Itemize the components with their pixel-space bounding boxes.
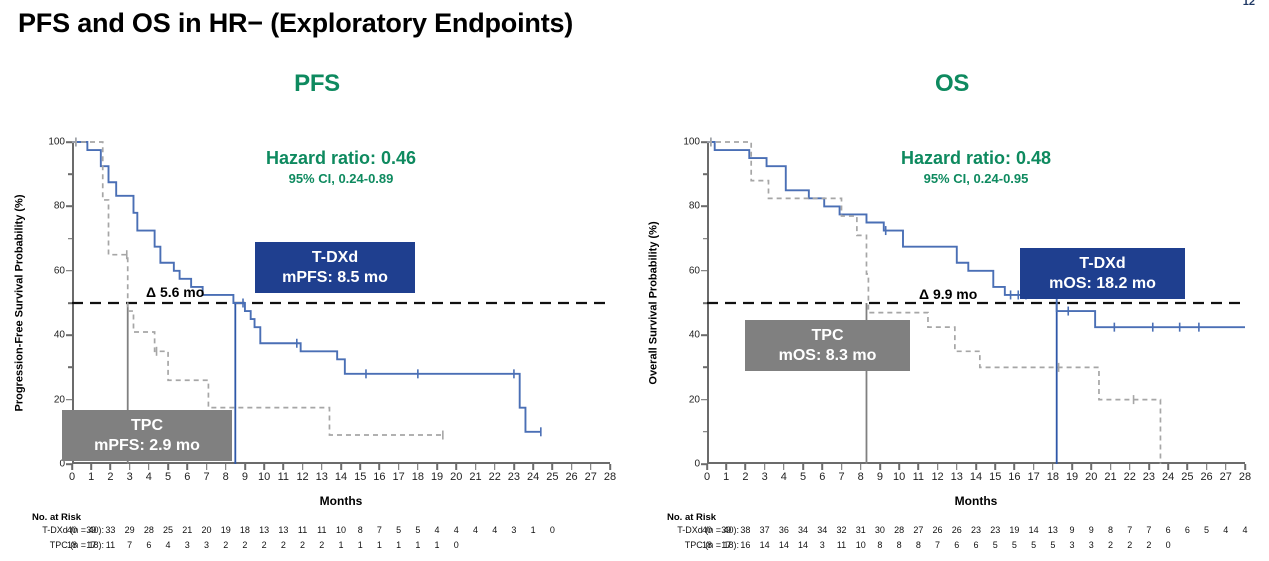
x-tick-label: 15: [989, 471, 1001, 483]
risk-row-value: 5: [993, 540, 998, 550]
x-tick-label: 16: [1008, 471, 1020, 483]
x-tick-label: 26: [565, 471, 577, 483]
x-tick-label: 24: [527, 471, 539, 483]
risk-row-value: 1: [358, 540, 363, 550]
risk-row-value: 39: [86, 525, 96, 535]
risk-row-value: 14: [1029, 525, 1039, 535]
risk-row-value: 0: [1166, 540, 1171, 550]
x-tick-label: 18: [412, 471, 424, 483]
x-tick-mark: [494, 464, 496, 470]
risk-row-value: 7: [1127, 525, 1132, 535]
x-tick-label: 11: [278, 471, 289, 483]
y-tick-label: 60: [689, 265, 707, 276]
x-tick-label: 13: [316, 471, 328, 483]
x-tick-mark: [398, 464, 400, 470]
risk-row-value: 26: [952, 525, 962, 535]
slide-title: PFS and OS in HR− (Exploratory Endpoints…: [18, 8, 573, 39]
risk-row-value: 28: [144, 525, 154, 535]
x-tick-label: 20: [450, 471, 462, 483]
risk-row-value: 3: [204, 540, 209, 550]
x-tick-label: 1: [88, 471, 94, 483]
risk-row-value: 37: [760, 525, 770, 535]
callout-tpc-os: TPC mOS: 8.3 mo: [745, 320, 910, 371]
risk-row-value: 1: [396, 540, 401, 550]
x-tick-mark: [706, 464, 708, 470]
risk-row-value: 40: [702, 525, 712, 535]
risk-table-os: No. at Risk T-DXd (n = 40):4039383736343…: [639, 512, 1269, 553]
risk-row-value: 6: [954, 540, 959, 550]
callout-tpc-os-line1: TPC: [759, 326, 896, 346]
panel-os: OS Overall Survival Probability (%) 0204…: [635, 70, 1269, 561]
x-tick-mark: [90, 464, 92, 470]
risk-table-row: T-DXd (n = 40):4039383736343432313028272…: [639, 523, 1269, 538]
x-tick-mark: [552, 464, 554, 470]
slide-root: 12 PFS and OS in HR− (Exploratory Endpoi…: [0, 0, 1269, 561]
risk-row-value: 5: [1204, 525, 1209, 535]
risk-row-value: 13: [278, 525, 288, 535]
x-tick-mark: [841, 464, 843, 470]
x-tick-mark: [975, 464, 977, 470]
x-tick-label: 3: [762, 471, 768, 483]
risk-row-value: 2: [1146, 540, 1151, 550]
x-tick-mark: [532, 464, 534, 470]
x-tick-mark: [1033, 464, 1035, 470]
risk-row-value: 18: [240, 525, 250, 535]
risk-row-value: 3: [185, 540, 190, 550]
x-tick-label: 11: [913, 471, 924, 483]
risk-row-value: 14: [760, 540, 770, 550]
x-tick-mark: [1148, 464, 1150, 470]
risk-row-value: 3: [511, 525, 516, 535]
x-tick-mark: [379, 464, 381, 470]
risk-row-value: 5: [415, 525, 420, 535]
callout-tpc-pfs-line1: TPC: [76, 416, 218, 436]
y-tick-label: 100: [48, 137, 72, 148]
risk-row-value: 4: [454, 525, 459, 535]
x-tick-label: 12: [931, 471, 943, 483]
risk-row-value: 13: [1048, 525, 1058, 535]
risk-row-value: 1: [338, 540, 343, 550]
x-tick-mark: [340, 464, 342, 470]
callout-tpc-pfs: TPC mPFS: 2.9 mo: [62, 410, 232, 461]
risk-row-value: 28: [894, 525, 904, 535]
callout-tdxd-os: T-DXd mOS: 18.2 mo: [1020, 248, 1185, 299]
risk-row-value: 1: [415, 540, 420, 550]
hazard-ratio-block-pfs: Hazard ratio: 0.46 95% CI, 0.24-0.89: [216, 148, 466, 186]
risk-row-value: 6: [973, 540, 978, 550]
x-tick-mark: [1014, 464, 1016, 470]
callout-tdxd-os-line1: T-DXd: [1034, 254, 1171, 274]
risk-row-value: 6: [1185, 525, 1190, 535]
hazard-ratio-ci-pfs: 95% CI, 0.24-0.89: [216, 171, 466, 186]
risk-row-value: 2: [262, 540, 267, 550]
risk-row-value: 2: [242, 540, 247, 550]
risk-row-value: 8: [897, 540, 902, 550]
x-tick-mark: [1167, 464, 1169, 470]
x-tick-label: 22: [489, 471, 501, 483]
x-tick-mark: [745, 464, 747, 470]
x-tick-mark: [186, 464, 188, 470]
risk-row-value: 23: [971, 525, 981, 535]
risk-row-value: 3: [820, 540, 825, 550]
risk-row-value: 7: [1146, 525, 1151, 535]
hazard-ratio-block-os: Hazard ratio: 0.48 95% CI, 0.24-0.95: [851, 148, 1101, 186]
x-tick-label: 8: [223, 471, 229, 483]
x-tick-label: 10: [893, 471, 905, 483]
x-tick-label: 21: [469, 471, 481, 483]
y-tick-label: 80: [689, 201, 707, 212]
risk-row-value: 6: [146, 540, 151, 550]
x-tick-mark: [860, 464, 862, 470]
risk-row-value: 2: [300, 540, 305, 550]
x-tick-label: 4: [146, 471, 152, 483]
x-tick-mark: [417, 464, 419, 470]
x-tick-mark: [898, 464, 900, 470]
x-tick-mark: [1187, 464, 1189, 470]
x-tick-label: 10: [258, 471, 270, 483]
risk-row-value: 39: [721, 525, 731, 535]
x-tick-mark: [609, 464, 611, 470]
x-tick-mark: [225, 464, 227, 470]
plot-area-os: 0204060801000123456789101112131415161718…: [707, 142, 1245, 464]
x-tick-mark: [206, 464, 208, 470]
x-tick-mark: [918, 464, 920, 470]
x-tick-mark: [1225, 464, 1227, 470]
y-tick-label: 40: [689, 330, 707, 341]
risk-row-value: 4: [1242, 525, 1247, 535]
risk-row-value: 20: [201, 525, 211, 535]
x-tick-mark: [110, 464, 112, 470]
y-tick-label: 100: [683, 137, 707, 148]
y-tick-label: 60: [54, 265, 72, 276]
y-tick-label: 20: [54, 394, 72, 405]
risk-row-value: 10: [336, 525, 346, 535]
x-tick-mark: [283, 464, 285, 470]
x-tick-label: 28: [604, 471, 616, 483]
x-tick-mark: [71, 464, 73, 470]
x-tick-mark: [302, 464, 304, 470]
x-tick-label: 9: [877, 471, 883, 483]
risk-row-value: 2: [223, 540, 228, 550]
x-tick-label: 14: [335, 471, 347, 483]
y-axis-label-text-os: Overall Survival Probability (%): [648, 221, 660, 384]
risk-row-value: 9: [1089, 525, 1094, 535]
x-tick-mark: [1129, 464, 1131, 470]
x-tick-mark: [1244, 464, 1246, 470]
hazard-ratio-line-os: Hazard ratio: 0.48: [851, 148, 1101, 169]
x-tick-label: 9: [242, 471, 248, 483]
risk-row-value: 7: [377, 525, 382, 535]
risk-row-value: 26: [933, 525, 943, 535]
risk-row-value: 7: [127, 540, 132, 550]
risk-row-value: 32: [836, 525, 846, 535]
hazard-ratio-value-pfs: 0.46: [381, 148, 416, 168]
risk-row-value: 36: [779, 525, 789, 535]
risk-row-value: 25: [163, 525, 173, 535]
x-tick-label: 23: [508, 471, 520, 483]
x-tick-label: 22: [1124, 471, 1136, 483]
x-tick-mark: [725, 464, 727, 470]
x-tick-mark: [764, 464, 766, 470]
risk-row-value: 2: [281, 540, 286, 550]
y-axis-label-os: Overall Survival Probability (%): [645, 142, 663, 464]
km-curves-os: [707, 142, 1245, 464]
risk-row-value: 4: [492, 525, 497, 535]
x-tick-mark: [167, 464, 169, 470]
y-tick-label: 40: [54, 330, 72, 341]
x-tick-label: 6: [819, 471, 825, 483]
x-tick-label: 20: [1085, 471, 1097, 483]
risk-row-value: 0: [454, 540, 459, 550]
x-axis-label-os: Months: [707, 494, 1245, 508]
risk-row-value: 2: [319, 540, 324, 550]
x-tick-label: 12: [296, 471, 308, 483]
y-tick-label: 20: [689, 394, 707, 405]
risk-row-value: 6: [1166, 525, 1171, 535]
risk-row-value: 11: [106, 540, 115, 550]
risk-row-value: 30: [875, 525, 885, 535]
risk-row-value: 31: [856, 525, 866, 535]
risk-row-value: 16: [740, 540, 750, 550]
x-tick-mark: [994, 464, 996, 470]
risk-table-row: T-DXd (n = 40):4039332928252120191813131…: [4, 523, 634, 538]
page-number: 12: [1243, 0, 1255, 8]
risk-row-value: 10: [856, 540, 866, 550]
risk-row-value: 5: [1050, 540, 1055, 550]
risk-table-row: TPC (n = 18):181716141414311108887665555…: [639, 538, 1269, 553]
x-tick-label: 24: [1162, 471, 1174, 483]
hazard-ratio-label-pfs: Hazard ratio: [266, 148, 370, 168]
risk-row-value: 1: [377, 540, 382, 550]
x-tick-mark: [937, 464, 939, 470]
risk-row-value: 19: [1009, 525, 1019, 535]
risk-row-value: 8: [916, 540, 921, 550]
x-tick-mark: [244, 464, 246, 470]
x-tick-label: 2: [742, 471, 748, 483]
risk-row-value: 8: [877, 540, 882, 550]
x-tick-label: 19: [431, 471, 443, 483]
x-tick-mark: [802, 464, 804, 470]
risk-row-value: 21: [182, 525, 192, 535]
x-tick-mark: [263, 464, 265, 470]
risk-row-value: 5: [1031, 540, 1036, 550]
risk-row-value: 1: [531, 525, 536, 535]
hazard-ratio-ci-os: 95% CI, 0.24-0.95: [851, 171, 1101, 186]
x-tick-mark: [359, 464, 361, 470]
x-tick-label: 15: [354, 471, 366, 483]
risk-row-value: 8: [1108, 525, 1113, 535]
risk-row-value: 11: [298, 525, 307, 535]
x-tick-label: 17: [1028, 471, 1040, 483]
x-tick-mark: [129, 464, 131, 470]
risk-row-value: 40: [67, 525, 77, 535]
x-tick-mark: [879, 464, 881, 470]
x-tick-label: 5: [800, 471, 806, 483]
callout-tdxd-os-line2: mOS: 18.2 mo: [1034, 274, 1171, 294]
hazard-ratio-line-pfs: Hazard ratio: 0.46: [216, 148, 466, 169]
x-axis-label-pfs: Months: [72, 494, 610, 508]
x-tick-mark: [956, 464, 958, 470]
y-axis-label-text-pfs: Progression-Free Survival Probability (%…: [13, 194, 25, 411]
x-tick-mark: [783, 464, 785, 470]
risk-row-value: 34: [817, 525, 827, 535]
x-tick-mark: [571, 464, 573, 470]
risk-row-value: 13: [259, 525, 269, 535]
x-tick-mark: [1090, 464, 1092, 470]
delta-label-os: Δ 9.9 mo: [919, 286, 977, 302]
x-tick-label: 18: [1047, 471, 1059, 483]
x-tick-label: 14: [970, 471, 982, 483]
x-tick-label: 13: [951, 471, 963, 483]
risk-row-value: 14: [798, 540, 808, 550]
risk-table-title-pfs: No. at Risk: [32, 512, 634, 523]
risk-row-value: 18: [702, 540, 712, 550]
risk-row-value: 34: [798, 525, 808, 535]
y-tick-label: 80: [54, 201, 72, 212]
y-tick-label: 0: [694, 459, 707, 470]
x-tick-label: 8: [858, 471, 864, 483]
x-tick-label: 7: [203, 471, 209, 483]
x-tick-label: 26: [1200, 471, 1212, 483]
risk-row-value: 11: [837, 540, 846, 550]
x-tick-mark: [1110, 464, 1112, 470]
x-tick-label: 27: [585, 471, 597, 483]
x-tick-mark: [455, 464, 457, 470]
hazard-ratio-value-os: 0.48: [1016, 148, 1051, 168]
risk-row-value: 7: [935, 540, 940, 550]
risk-row-value: 4: [1223, 525, 1228, 535]
x-tick-label: 4: [781, 471, 787, 483]
x-tick-mark: [590, 464, 592, 470]
risk-table-row: TPC (n = 18):181711764332222221111110: [4, 538, 634, 553]
risk-row-value: 0: [550, 525, 555, 535]
panel-title-os: OS: [635, 70, 1269, 98]
risk-table-title-os: No. at Risk: [667, 512, 1269, 523]
x-tick-mark: [513, 464, 515, 470]
risk-row-value: 1: [435, 540, 440, 550]
hazard-ratio-label-os: Hazard ratio: [901, 148, 1005, 168]
risk-row-value: 3: [1089, 540, 1094, 550]
x-tick-label: 25: [546, 471, 558, 483]
risk-row-value: 27: [913, 525, 923, 535]
delta-label-pfs: Δ 5.6 mo: [146, 284, 204, 300]
x-tick-label: 28: [1239, 471, 1251, 483]
y-axis-label-pfs: Progression-Free Survival Probability (%…: [10, 142, 28, 464]
panel-pfs: PFS Progression-Free Survival Probabilit…: [0, 70, 634, 561]
callout-tdxd-pfs-line1: T-DXd: [269, 248, 401, 268]
risk-row-value: 38: [740, 525, 750, 535]
callout-tpc-pfs-line2: mPFS: 2.9 mo: [76, 436, 218, 456]
risk-row-value: 5: [396, 525, 401, 535]
risk-table-pfs: No. at Risk T-DXd (n = 40):4039332928252…: [4, 512, 634, 553]
risk-row-value: 33: [105, 525, 115, 535]
callout-tdxd-pfs: T-DXd mPFS: 8.5 mo: [255, 242, 415, 293]
x-tick-label: 23: [1143, 471, 1155, 483]
risk-row-value: 17: [721, 540, 731, 550]
risk-row-value: 3: [1070, 540, 1075, 550]
risk-row-value: 4: [473, 525, 478, 535]
risk-row-value: 5: [1012, 540, 1017, 550]
x-tick-mark: [475, 464, 477, 470]
x-tick-label: 1: [723, 471, 729, 483]
x-tick-label: 16: [373, 471, 385, 483]
risk-row-value: 9: [1070, 525, 1075, 535]
callout-tpc-os-line2: mOS: 8.3 mo: [759, 346, 896, 366]
panel-title-pfs: PFS: [0, 70, 634, 98]
x-tick-mark: [436, 464, 438, 470]
x-tick-label: 2: [107, 471, 113, 483]
risk-row-value: 29: [125, 525, 135, 535]
x-tick-label: 19: [1066, 471, 1078, 483]
x-tick-label: 5: [165, 471, 171, 483]
x-tick-mark: [1071, 464, 1073, 470]
risk-row-value: 23: [990, 525, 1000, 535]
risk-row-value: 4: [435, 525, 440, 535]
risk-row-value: 19: [221, 525, 231, 535]
x-tick-label: 25: [1181, 471, 1193, 483]
x-tick-mark: [1206, 464, 1208, 470]
callout-tdxd-pfs-line2: mPFS: 8.5 mo: [269, 268, 401, 288]
x-tick-label: 6: [184, 471, 190, 483]
risk-row-value: 2: [1127, 540, 1132, 550]
risk-row-value: 11: [317, 525, 326, 535]
x-tick-label: 3: [127, 471, 133, 483]
risk-row-value: 18: [67, 540, 77, 550]
x-tick-label: 7: [838, 471, 844, 483]
x-tick-mark: [148, 464, 150, 470]
risk-row-value: 17: [86, 540, 96, 550]
x-tick-mark: [321, 464, 323, 470]
x-tick-mark: [1052, 464, 1054, 470]
x-tick-label: 17: [393, 471, 405, 483]
risk-row-value: 14: [779, 540, 789, 550]
x-tick-label: 0: [69, 471, 75, 483]
risk-row-value: 4: [166, 540, 171, 550]
x-tick-label: 27: [1220, 471, 1232, 483]
x-tick-label: 0: [704, 471, 710, 483]
x-tick-label: 21: [1104, 471, 1116, 483]
risk-row-value: 8: [358, 525, 363, 535]
risk-row-value: 2: [1108, 540, 1113, 550]
x-tick-mark: [821, 464, 823, 470]
